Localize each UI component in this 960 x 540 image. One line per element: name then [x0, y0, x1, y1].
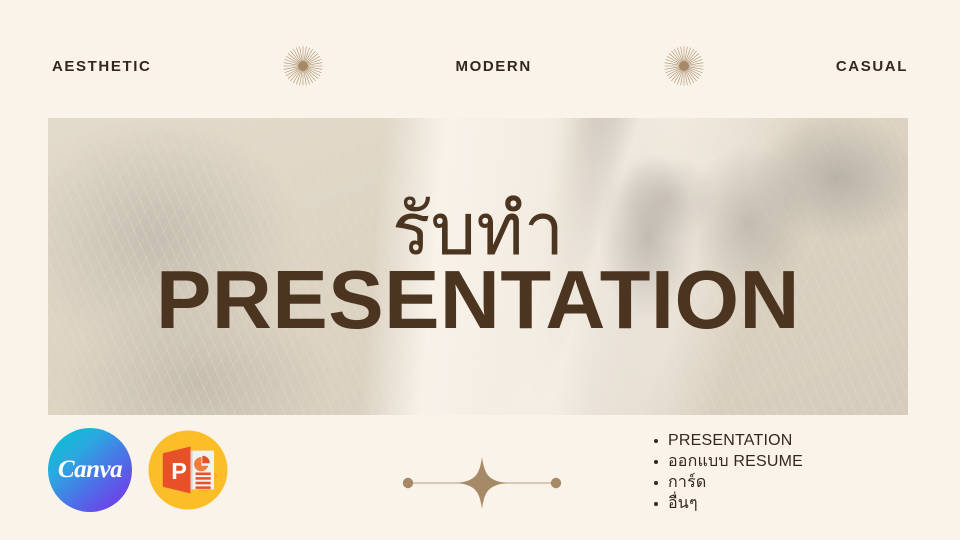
list-item: ออกแบบ RESUME: [668, 451, 803, 472]
presentation-slide: AESTHETIC: [0, 0, 960, 540]
powerpoint-logo[interactable]: P: [146, 428, 230, 512]
header-label-aesthetic: AESTHETIC: [52, 59, 151, 74]
hero-title: PRESENTATION: [156, 262, 800, 338]
list-item: การ์ด: [668, 472, 803, 493]
sunburst-icon: [662, 44, 706, 88]
svg-text:P: P: [171, 458, 187, 484]
list-item: PRESENTATION: [668, 430, 803, 451]
slide-header: AESTHETIC: [52, 44, 908, 88]
canva-wordmark: Canva: [58, 457, 122, 482]
logo-group: Canva: [48, 428, 230, 512]
canva-logo[interactable]: Canva: [48, 428, 132, 512]
slide-footer: Canva: [48, 428, 912, 524]
header-label-modern: MODERN: [456, 59, 532, 74]
list-item: อื่นๆ: [668, 493, 803, 514]
services-list: PRESENTATION ออกแบบ RESUME การ์ด อื่นๆ: [648, 430, 803, 514]
hero-text-block: รับทำ PRESENTATION: [48, 118, 908, 415]
sunburst-icon: [281, 44, 325, 88]
header-label-casual: CASUAL: [836, 59, 908, 74]
